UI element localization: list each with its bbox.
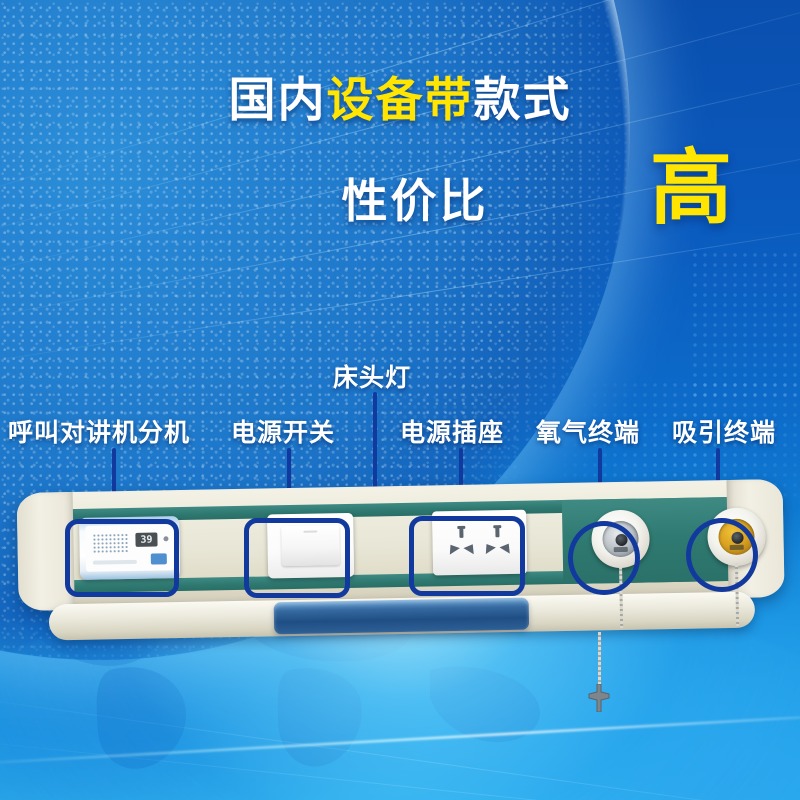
highlight-circle-suction [686, 518, 758, 592]
cross-key-icon [586, 684, 612, 712]
headline-big-char: 高 [650, 150, 732, 228]
callout-label-switch: 电源开关 [231, 413, 335, 449]
callout-label-oxygen: 氧气终端 [536, 413, 640, 449]
highlight-circle-oxygen [568, 521, 640, 595]
callout-label-socket: 电源插座 [400, 413, 504, 449]
headline-part1: 国内 [229, 73, 327, 126]
callout-label-intercom: 呼叫对讲机分机 [8, 413, 190, 449]
callout-label-bedlight: 床头灯 [333, 358, 411, 394]
promo-banner: 国内设备带款式 性价比 高 呼叫对讲机分机 电源开关 床头灯 电源插座 氧气终端… [0, 0, 800, 800]
hanging-key-chain [598, 632, 601, 690]
highlight-box-socket [409, 516, 525, 596]
bed-light-lens[interactable] [274, 598, 530, 635]
callout-label-suction: 吸引终端 [672, 413, 776, 449]
headline-highlight: 设备带 [327, 73, 474, 126]
highlight-box-switch [244, 518, 350, 598]
headline-part3: 款式 [474, 73, 572, 126]
halftone-dots-topright [690, 250, 800, 400]
page-title: 国内设备带款式 [0, 76, 800, 123]
highlight-box-intercom [65, 519, 179, 597]
